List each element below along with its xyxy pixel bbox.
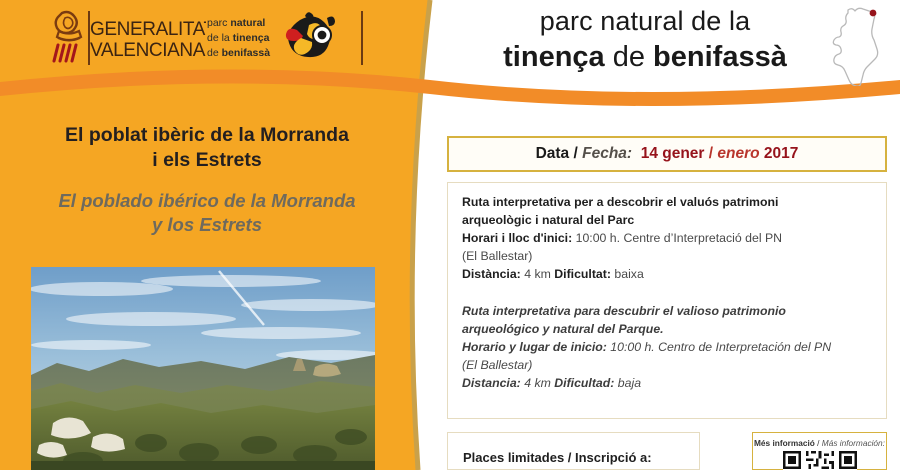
valencia-map-icon — [826, 4, 892, 86]
date-text: Data / Fecha: 14 gener / enero 2017 — [536, 145, 799, 163]
distance-label-es: Distancia: — [462, 376, 521, 390]
more-info-label-separator: / — [815, 438, 822, 448]
activity-title-es-line2: y los Estrets — [18, 213, 396, 237]
generalitat-valenciana-logo: GENERALITAT VALENCIANA — [46, 9, 206, 67]
route-info-box: Ruta interpretativa per a descobrir el v… — [447, 182, 887, 419]
pn-logo-line1-bold: natural — [230, 17, 265, 29]
route-info-spanish: Ruta interpretativa para descubrir el va… — [462, 303, 872, 393]
date-box: Data / Fecha: 14 gener / enero 2017 — [447, 136, 887, 172]
pn-logo-line2-bold: tinença — [233, 32, 270, 44]
route-intro-va-line2: arqueològic i natural del Parc — [462, 213, 634, 227]
schedule-label-va: Horari i lloc d'inici: — [462, 231, 572, 245]
activity-title-spanish: El poblado ibérico de la Morranda y los … — [18, 189, 396, 237]
difficulty-label-es: Dificultad: — [554, 376, 614, 390]
date-value-valencian: 14 gener — [641, 145, 705, 162]
svg-text:parc natural: parc natural — [207, 17, 265, 29]
signup-text: Places limitades / Inscripció a: — [463, 450, 652, 465]
schedule-value-es-line2: (El Ballestar) — [462, 357, 872, 375]
difficulty-label-va: Dificultat: — [554, 267, 611, 281]
activity-title-va-line1: El poblat ibèric de la Morranda — [18, 123, 396, 148]
header-divider-right — [361, 11, 363, 65]
difficulty-value-es: baja — [614, 376, 641, 390]
route-intro-es-line2: arqueológico y natural del Parque. — [462, 322, 664, 336]
poster-root: GENERALITAT VALENCIANA parc natural de l… — [0, 0, 900, 470]
brand-title-de: de — [605, 41, 653, 73]
more-info-label-valencian: Més informació — [754, 438, 815, 448]
svg-text:de benifassà: de benifassà — [207, 47, 270, 59]
landscape-photo — [31, 267, 375, 470]
brand-title-benifassa: benifassà — [653, 41, 787, 73]
activity-title-es-line1: El poblado ibérico de la Morranda — [18, 189, 396, 213]
distance-value-va: 4 km — [521, 267, 554, 281]
date-label-valencian: Data — [536, 145, 570, 162]
date-value-spanish: enero — [717, 145, 759, 162]
gva-emblem-icon — [54, 12, 81, 61]
activity-title-valencian: El poblat ibèric de la Morranda i els Es… — [18, 123, 396, 173]
header-divider-left — [88, 11, 90, 65]
pn-logo-bird-icon — [286, 12, 335, 57]
location-dot-icon — [870, 10, 877, 17]
schedule-label-es: Horario y lugar de inicio: — [462, 340, 607, 354]
date-value-separator: / — [704, 145, 717, 162]
brand-title-line2: tinença de benifassà — [470, 41, 820, 75]
difficulty-value-va: baixa — [611, 267, 644, 281]
activity-title-va-line2: i els Estrets — [18, 148, 396, 173]
more-info-box: Més informació / Más información: — [752, 432, 887, 470]
date-value-year: 2017 — [764, 145, 798, 162]
pn-logo-line1-light: parc — [207, 17, 230, 29]
schedule-value-va: 10:00 h. Centre d’Interpretació del PN — [572, 231, 782, 245]
parc-natural-tinenca-logo: parc natural de la tinença de benifassà — [205, 8, 345, 70]
more-info-label-spanish: Más información: — [822, 438, 885, 448]
brand-title-line1: parc natural de la — [470, 6, 820, 37]
svg-text:de la tinença: de la tinença — [207, 32, 270, 44]
route-intro-va-line1: Ruta interpretativa per a descobrir el v… — [462, 195, 778, 209]
signup-box: Places limitades / Inscripció a: — [447, 432, 700, 470]
pn-logo-line3-bold: benifassà — [222, 47, 271, 59]
poster-brand-title: parc natural de la tinença de benifassà — [470, 6, 820, 75]
date-label-separator: / — [569, 145, 582, 162]
schedule-value-es: 10:00 h. Centro de Interpretación del PN — [607, 340, 831, 354]
date-label-spanish: Fecha: — [582, 145, 632, 162]
pn-logo-line3-light: de — [207, 47, 222, 59]
route-intro-es-line1: Ruta interpretativa para descubrir el va… — [462, 304, 786, 318]
gva-logo-line2: VALENCIANA — [90, 40, 206, 61]
schedule-value-va-line2: (El Ballestar) — [462, 248, 872, 266]
distance-label-va: Distància: — [462, 267, 521, 281]
route-info-valencian: Ruta interpretativa per a descobrir el v… — [462, 194, 872, 284]
more-info-label: Més informació / Más información: — [753, 438, 886, 448]
qr-code-icon[interactable] — [783, 451, 857, 470]
pn-logo-line2-light: de la — [207, 32, 233, 44]
brand-title-tinenca: tinença — [503, 41, 605, 73]
distance-value-es: 4 km — [521, 376, 554, 390]
gva-logo-line1: GENERALITAT — [90, 19, 206, 40]
